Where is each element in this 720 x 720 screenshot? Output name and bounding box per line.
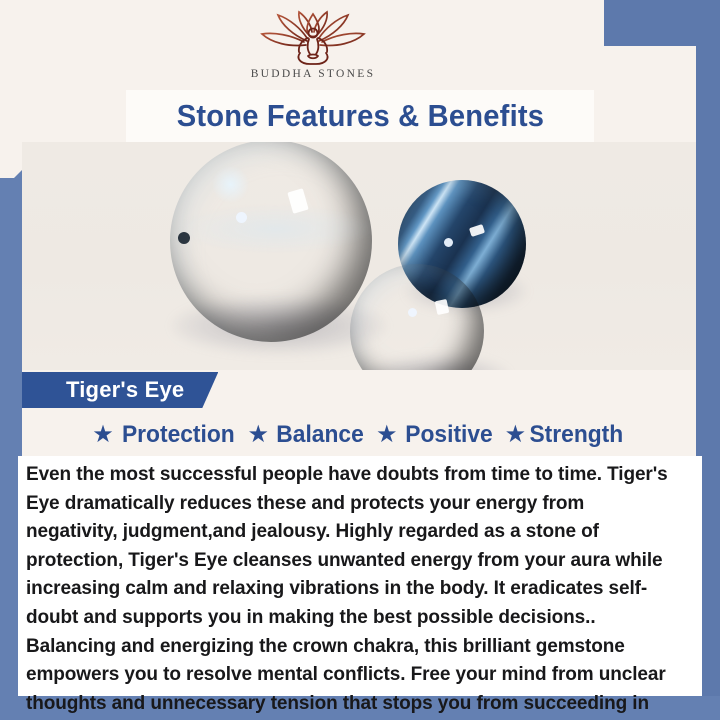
description-text: Even the most successful people have dou… (26, 460, 674, 720)
title-banner: Stone Features & Benefits (126, 90, 594, 142)
description-panel: Even the most successful people have dou… (18, 456, 702, 696)
brand-header: BUDDHA STONES (22, 0, 604, 92)
infographic-poster: BUDDHA STONES Stone Features & Benefits … (0, 0, 720, 720)
brand-name: BUDDHA STONES (251, 68, 376, 80)
bead-hole (178, 232, 190, 244)
highlight (469, 224, 485, 237)
benefit-item-positive: ★ Positive (372, 421, 499, 449)
benefit-label: Positive (405, 421, 492, 449)
lotus-meditation-icon (254, 10, 372, 66)
star-icon: ★ (92, 423, 114, 447)
benefit-label: Protection (122, 421, 235, 449)
stone-name: Tiger's Eye (66, 377, 184, 403)
benefit-item-protection: ★ Protection (88, 421, 241, 449)
highlight-dot (444, 238, 453, 247)
benefit-item-strength: ★ Strength (501, 421, 630, 449)
star-icon: ★ (376, 423, 398, 447)
page-title: Stone Features & Benefits (176, 98, 543, 134)
gemstone-sphere-large (170, 142, 372, 342)
sphere-sheen (170, 142, 372, 342)
star-icon: ★ (505, 423, 527, 447)
benefit-item-balance: ★ Balance (243, 421, 370, 449)
highlight (435, 299, 450, 315)
benefit-label: Balance (276, 421, 363, 449)
benefits-row: ★ Protection ★ Balance ★ Positive ★ Stre… (22, 416, 696, 454)
star-icon: ★ (247, 423, 269, 447)
benefit-label: Strength (530, 421, 624, 449)
stone-name-banner: Tiger's Eye (22, 372, 218, 408)
highlight-dot (236, 212, 247, 223)
highlight-dot (408, 308, 417, 317)
product-photo (22, 142, 696, 370)
